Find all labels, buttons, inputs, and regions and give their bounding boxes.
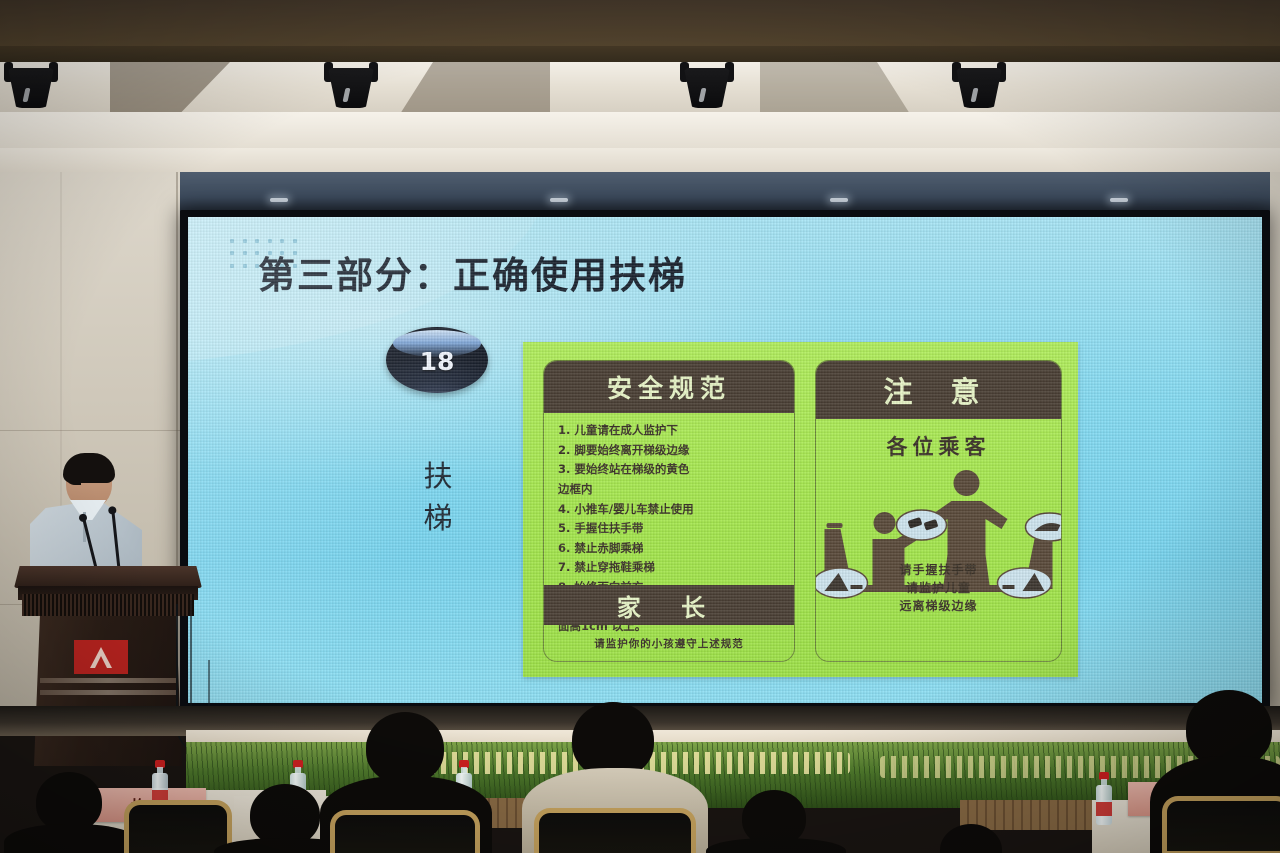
wall-panel-line [0, 430, 186, 431]
rule-item: 4. 小推车/婴儿车禁止使用 [558, 500, 784, 519]
ceiling-beam-lower [0, 148, 1280, 174]
ceiling-spotlight-icon [952, 62, 1006, 110]
ceiling-spotlight-icon [680, 62, 734, 110]
safety-rules-card: 安全规范 1. 儿童请在成人监护下 2. 脚要始终离开梯级边缘 3. 要始终站在… [543, 360, 795, 662]
audience-head [36, 772, 102, 832]
attention-card: 注 意 各位乘客 [815, 360, 1062, 662]
audience-shoulders [4, 824, 140, 853]
slide-number-bubble: 18 [386, 327, 488, 393]
slide-vertical-label: 扶 梯 [403, 455, 473, 539]
podium [14, 566, 202, 766]
ceiling-spotlight-icon [324, 62, 378, 110]
speaker-hair [63, 453, 115, 483]
presentation-slide[interactable]: 第三部分：正确使用扶梯 18 扶 梯 安全规范 1. 儿童请在 [188, 217, 1262, 703]
parent-heading-bar: 家 长 [544, 585, 794, 625]
audience-head [366, 712, 444, 784]
led-screen-frame: 第三部分：正确使用扶梯 18 扶 梯 安全规范 1. 儿童请在 [180, 210, 1270, 710]
parent-note: 请监护你的小孩遵守上述规范 [544, 636, 794, 651]
caption-line: 远离梯级边缘 [816, 597, 1061, 615]
audience-head [572, 702, 654, 778]
attention-caption: 请手握扶手带 请监护儿童 远离梯级边缘 [816, 561, 1061, 615]
audience-chair [124, 800, 232, 853]
podium-stripe [40, 678, 176, 683]
rule-item: 3. 要始终站在梯级的黄色 [558, 460, 784, 479]
caption-line: 请手握扶手带 [816, 561, 1061, 579]
safety-rules-heading: 安全规范 [607, 369, 731, 405]
vertical-label-line-1: 扶 [403, 455, 473, 497]
screenshot-root: 第三部分：正确使用扶梯 18 扶 梯 安全规范 1. 儿童请在 [0, 0, 1280, 853]
rule-item: 2. 脚要始终离开梯级边缘 [558, 441, 784, 460]
audience-chair [330, 810, 480, 853]
attention-heading-bar: 注 意 [816, 361, 1061, 419]
podium-ribbed-trim [22, 594, 194, 616]
ceiling-beam-mid [0, 112, 1280, 150]
ceiling-upper-slab [0, 0, 1280, 46]
caption-line: 请监护儿童 [816, 579, 1061, 597]
audience-chair [1162, 796, 1280, 853]
vertical-label-line-2: 梯 [403, 497, 473, 539]
podium-stripe [40, 690, 176, 695]
attention-heading: 注 意 [883, 369, 993, 411]
podium-top [14, 566, 202, 588]
ceiling-spotlight-icon [4, 62, 58, 110]
audience-head [250, 784, 320, 846]
slide-title: 第三部分：正确使用扶梯 [258, 245, 687, 299]
safety-poster: 安全规范 1. 儿童请在成人监护下 2. 脚要始终离开梯级边缘 3. 要始终站在… [523, 342, 1078, 677]
audience-chair [534, 808, 696, 853]
rule-item: 1. 儿童请在成人监护下 [558, 421, 784, 440]
podium-emblem-icon [74, 640, 128, 674]
parent-heading: 家 长 [617, 588, 721, 623]
safety-rules-heading-bar: 安全规范 [544, 361, 794, 413]
audience-shoulders [706, 838, 846, 853]
rule-item: 6. 禁止赤脚乘梯 [558, 539, 784, 558]
rule-item: 5. 手握住扶手带 [558, 519, 784, 538]
attention-subheading: 各位乘客 [816, 431, 1061, 461]
slide-number: 18 [386, 347, 488, 376]
rule-item: 边框内 [558, 480, 784, 499]
rule-item: 7. 禁止穿拖鞋乘梯 [558, 558, 784, 577]
screen-header-band [180, 172, 1270, 214]
